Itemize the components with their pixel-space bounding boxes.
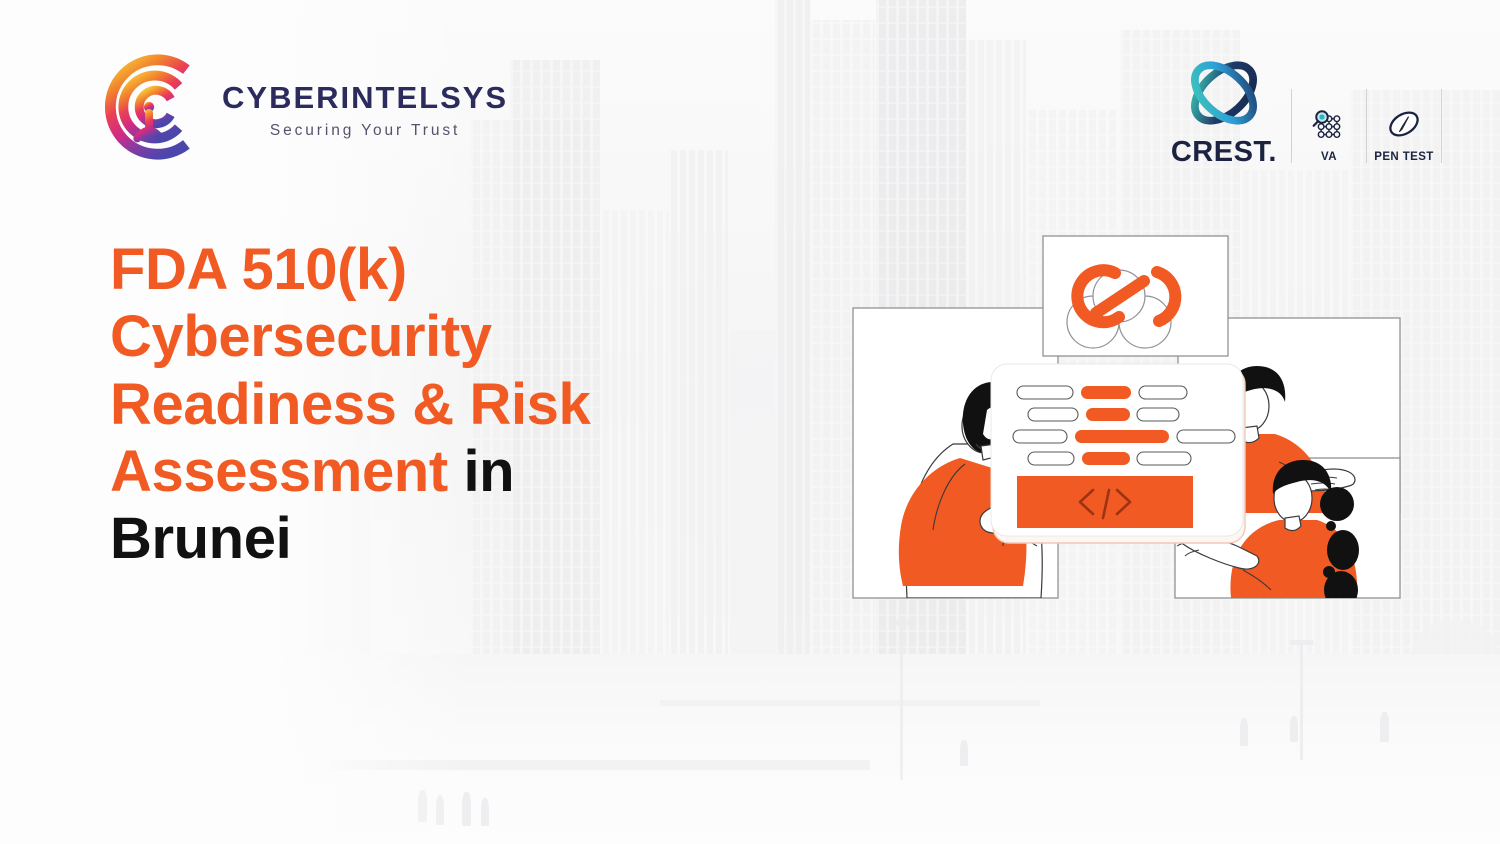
- code-line: [1013, 430, 1067, 443]
- code-line-accent: [1082, 452, 1130, 465]
- headline-accent: FDA 510(k) Cybersecurity Readiness & Ris…: [110, 237, 590, 504]
- banner-root: CYBERINTELSYS Securing Your Trust: [0, 0, 1500, 844]
- accreditation-badges: CREST. VA PEN TEST: [1171, 50, 1442, 167]
- pedestrian: [1380, 712, 1389, 742]
- code-tag-button: [1017, 476, 1193, 528]
- divider: [1441, 89, 1442, 163]
- magnifier-node-grid-icon: [1308, 103, 1350, 145]
- pedestrian: [1240, 718, 1248, 746]
- brand-logo[interactable]: CYBERINTELSYS Securing Your Trust: [92, 48, 508, 166]
- code-line: [1017, 386, 1073, 399]
- badge-pen-test-label: PEN TEST: [1374, 151, 1433, 163]
- brand-name: CYBERINTELSYS: [222, 82, 508, 113]
- code-line-accent: [1086, 408, 1130, 421]
- code-line: [1139, 386, 1187, 399]
- road-marking: [660, 700, 1040, 706]
- crest-label: CREST.: [1171, 138, 1277, 167]
- code-line-accent: [1081, 386, 1131, 399]
- page-title: FDA 510(k) Cybersecurity Readiness & Ris…: [110, 236, 710, 572]
- building: [775, 0, 810, 680]
- code-card: [991, 364, 1245, 543]
- devops-team-coding-illustration: [845, 228, 1405, 613]
- code-line: [1137, 452, 1191, 465]
- concentric-c-arcs-logo-icon: [92, 48, 210, 166]
- pedestrian: [1290, 716, 1298, 742]
- code-line: [1177, 430, 1235, 443]
- pen-ellipse-icon: [1383, 103, 1425, 145]
- badge-pen-test[interactable]: PEN TEST: [1367, 103, 1441, 167]
- crest-logo[interactable]: CREST.: [1171, 50, 1277, 167]
- lamp-post: [1300, 640, 1303, 760]
- badge-va[interactable]: VA: [1292, 103, 1366, 167]
- badge-va-label: VA: [1321, 151, 1337, 163]
- code-line: [1137, 408, 1179, 421]
- brand-tagline: Securing Your Trust: [222, 122, 508, 140]
- code-line: [1028, 452, 1074, 465]
- building: [730, 330, 775, 680]
- infinity-panel-frame: [1043, 236, 1228, 356]
- code-line-accent: [1075, 430, 1169, 443]
- crest-atom-logo-icon: [1180, 50, 1268, 136]
- code-line: [1028, 408, 1078, 421]
- illustration-svg: [845, 228, 1405, 613]
- pedestrian: [481, 798, 489, 826]
- pedestrian: [960, 740, 968, 766]
- lamp-post: [900, 620, 903, 780]
